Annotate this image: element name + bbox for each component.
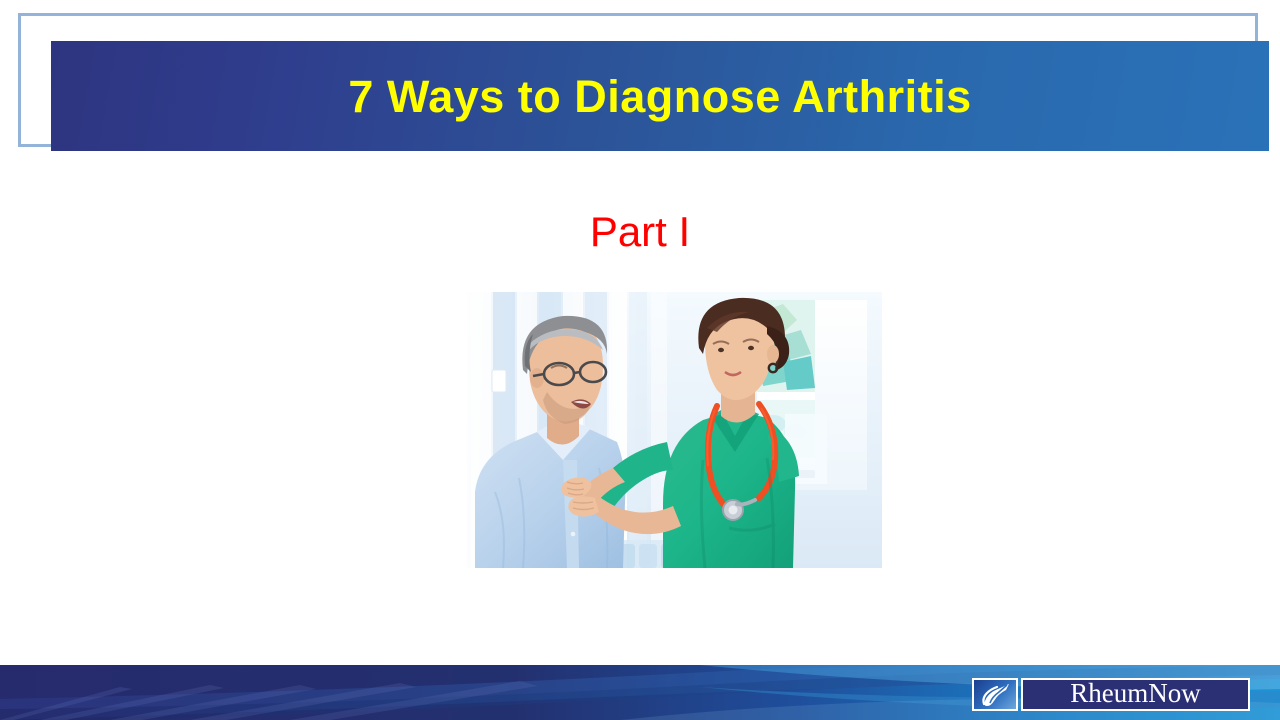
title-banner: 7 Ways to Diagnose Arthritis [51, 41, 1269, 151]
slide-canvas: 7 Ways to Diagnose Arthritis Part I [0, 0, 1280, 720]
rheumnow-wordmark-text: RheumNow [1070, 680, 1201, 707]
rheumnow-logo[interactable]: RheumNow [972, 678, 1250, 711]
title-banner-frame: 7 Ways to Diagnose Arthritis [18, 13, 1258, 147]
clinical-exam-photo-graphic [467, 292, 882, 568]
joint-bone-icon [972, 678, 1018, 711]
subtitle-part-label: Part I [0, 211, 1280, 253]
clinical-exam-photo [467, 292, 882, 568]
page-title: 7 Ways to Diagnose Arthritis [348, 74, 971, 119]
rheumnow-wordmark: RheumNow [1021, 678, 1250, 711]
joint-bone-icon-graphic [978, 682, 1012, 708]
